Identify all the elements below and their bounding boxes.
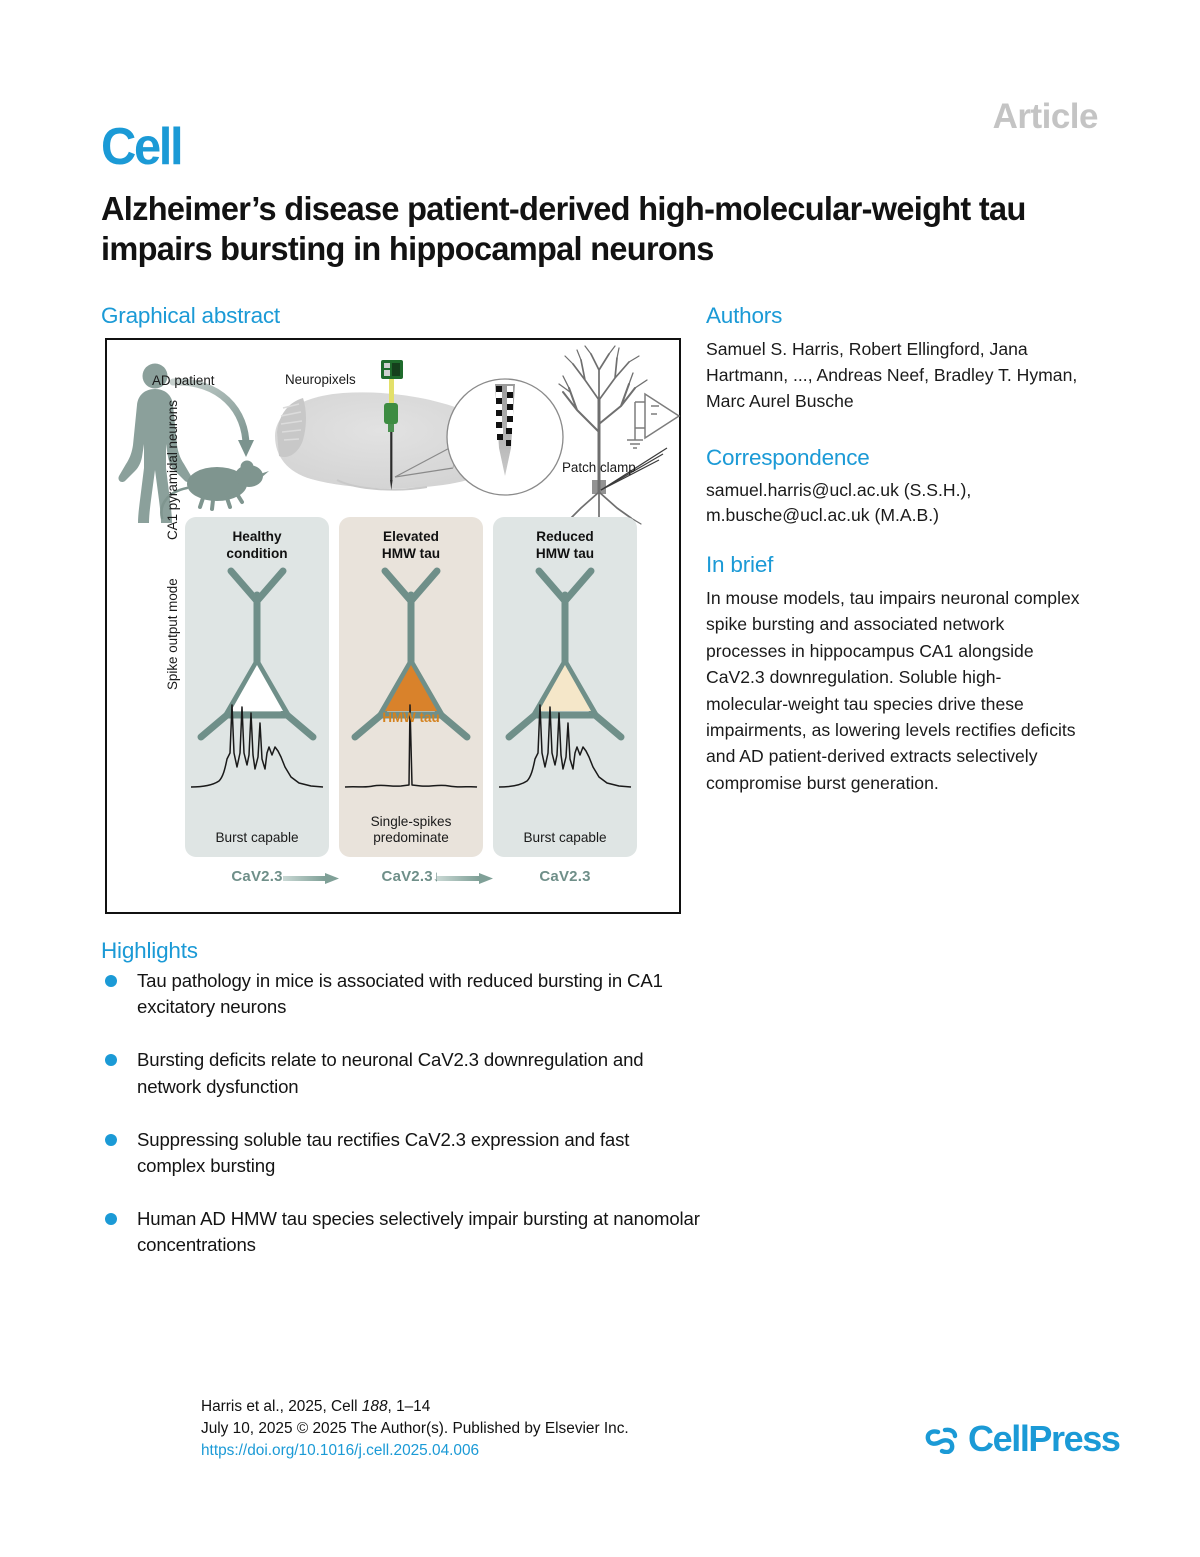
panel-1-neuron-and-trace xyxy=(185,555,329,805)
axis-label-spike-output-mode: Spike output mode xyxy=(165,578,180,690)
list-item: Bursting deficits relate to neuronal CaV… xyxy=(101,1047,701,1099)
cav-progression-row: CaV2.3 CaV2.3↓ CaV2.3 xyxy=(185,868,637,898)
highlight-text: Suppressing soluble tau rectifies CaV2.3… xyxy=(137,1129,629,1176)
label-hmw-tau: HMW tau xyxy=(339,710,483,725)
panel-footer: Single-spikespredominate xyxy=(339,814,483,847)
cellpress-logo: CellPress xyxy=(925,1418,1120,1460)
citation-line-1: Harris et al., 2025, Cell 188, 1–14 xyxy=(201,1396,629,1418)
panel-3-neuron-and-trace xyxy=(493,555,637,805)
list-item: Suppressing soluble tau rectifies CaV2.3… xyxy=(101,1127,701,1179)
graphical-abstract-top-illustration xyxy=(107,340,683,525)
panel-reduced-hmw-tau: ReducedHMW tau Burst capable xyxy=(493,517,637,857)
section-heading-in-brief: In brief xyxy=(706,552,773,578)
graphical-abstract-figure: AD patient Neuropixels Patch clamp CA1 p… xyxy=(105,338,681,914)
cellpress-wordmark: CellPress xyxy=(968,1418,1120,1460)
pyramidal-neuron-illustration xyxy=(559,346,647,525)
page-title: Alzheimer’s disease patient-derived high… xyxy=(101,190,1071,270)
footer-citation: Harris et al., 2025, Cell 188, 1–14 July… xyxy=(201,1396,629,1463)
authors-list: Samuel S. Harris, Robert Ellingford, Jan… xyxy=(706,336,1081,414)
label-ad-patient: AD patient xyxy=(152,373,215,388)
highlight-text: Bursting deficits relate to neuronal CaV… xyxy=(137,1049,644,1096)
correspondence-emails: samuel.harris@ucl.ac.uk (S.S.H.), m.busc… xyxy=(706,478,1081,527)
panel-2-neuron-and-trace xyxy=(339,555,483,805)
highlight-text: Tau pathology in mice is associated with… xyxy=(137,970,663,1017)
highlights-list: Tau pathology in mice is associated with… xyxy=(101,968,701,1286)
in-brief-text: In mouse models, tau impairs neuronal co… xyxy=(706,585,1081,796)
cav-arrows xyxy=(185,868,637,898)
highlight-text: Human AD HMW tau species selectively imp… xyxy=(137,1208,700,1255)
label-neuropixels: Neuropixels xyxy=(285,372,356,387)
transfer-arrow-icon xyxy=(173,382,254,457)
section-heading-authors: Authors xyxy=(706,303,782,329)
journal-logo: Cell xyxy=(101,121,181,173)
bullet-icon xyxy=(105,1213,117,1225)
paper-cover-page: Article Cell Alzheimer’s disease patient… xyxy=(0,0,1200,1557)
bullet-icon xyxy=(105,975,117,987)
citation-volume: 188 xyxy=(362,1398,388,1415)
amplifier-icon xyxy=(627,394,679,448)
doi-link[interactable]: https://doi.org/10.1016/j.cell.2025.04.0… xyxy=(201,1440,629,1462)
probe-tip-magnifier xyxy=(447,379,563,495)
panel-footer: Burst capable xyxy=(493,830,637,847)
arrow-right-icon xyxy=(437,873,493,884)
label-patch-clamp: Patch clamp xyxy=(562,460,636,475)
bullet-icon xyxy=(105,1134,117,1146)
panel-healthy-condition: Healthycondition Burst capable xyxy=(185,517,329,857)
list-item: Tau pathology in mice is associated with… xyxy=(101,968,701,1020)
bullet-icon xyxy=(105,1054,117,1066)
list-item: Human AD HMW tau species selectively imp… xyxy=(101,1206,701,1258)
panel-footer: Burst capable xyxy=(185,830,329,847)
cellpress-loop-icon xyxy=(925,1424,959,1454)
citation-prefix: Harris et al., 2025, Cell xyxy=(201,1398,362,1415)
panel-elevated-hmw-tau: ElevatedHMW tau HMW tau Single-spikespre… xyxy=(339,517,483,857)
section-heading-graphical-abstract: Graphical abstract xyxy=(101,303,280,329)
arrow-right-icon xyxy=(283,873,339,884)
section-heading-correspondence: Correspondence xyxy=(706,445,870,471)
article-type-label: Article xyxy=(993,97,1098,137)
axis-label-ca1-pyramidal-neurons: CA1 pyramidal neurons xyxy=(165,400,180,540)
citation-pages: , 1–14 xyxy=(388,1398,431,1415)
citation-line-2: July 10, 2025 © 2025 The Author(s). Publ… xyxy=(201,1418,629,1440)
section-heading-highlights: Highlights xyxy=(101,938,198,964)
